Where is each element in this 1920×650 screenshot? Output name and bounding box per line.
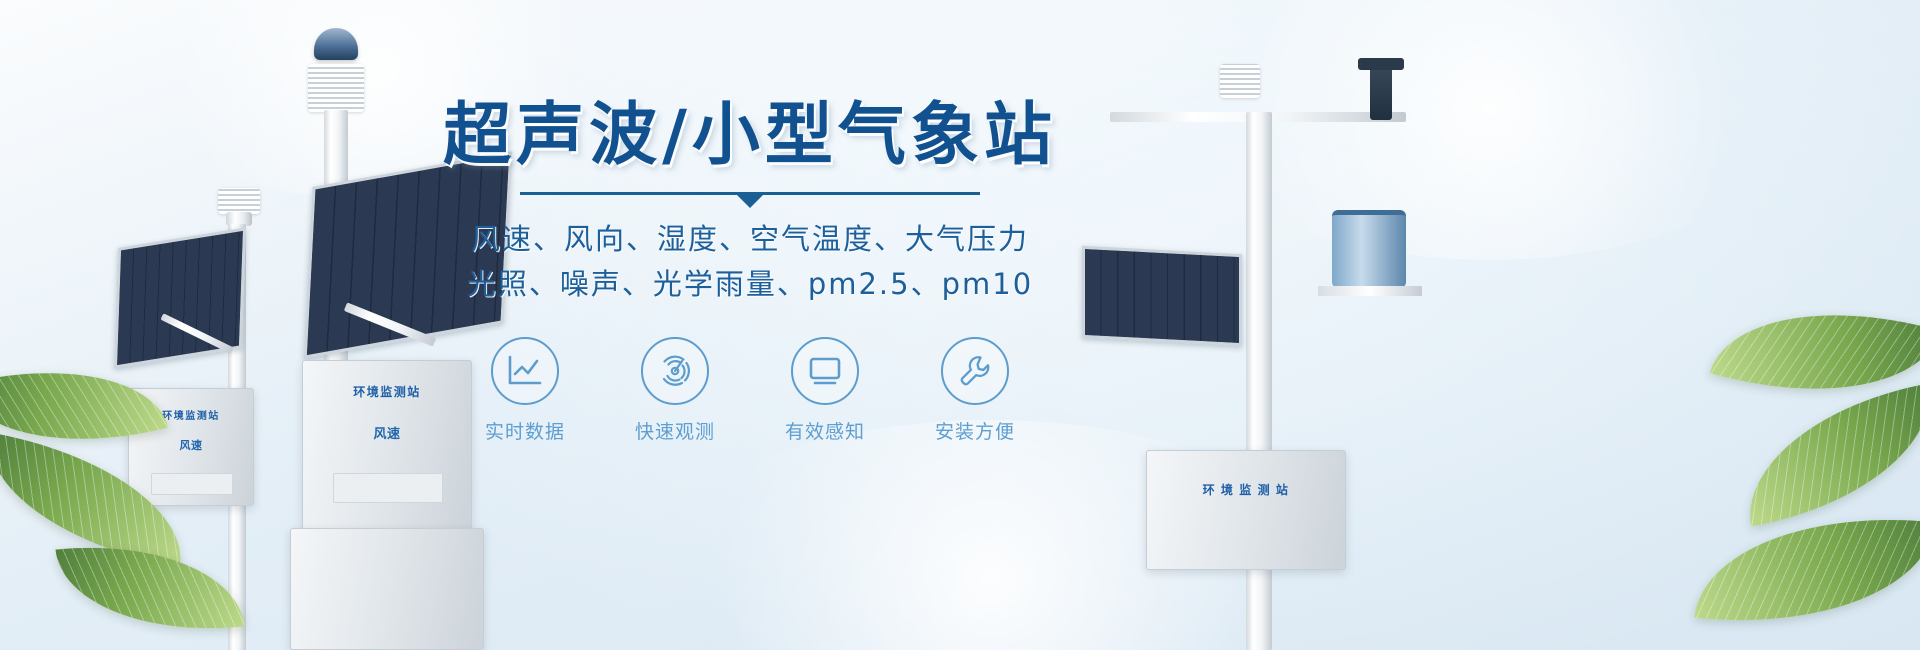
monitoring-cabinet: 环 境 监 测 站 xyxy=(1146,450,1346,570)
feature-label: 安装方便 xyxy=(920,417,1030,444)
radar-signal-icon xyxy=(656,352,694,390)
ultrasonic-sensor-dome-icon xyxy=(314,28,358,60)
sensor-radiation-shield-icon xyxy=(308,64,364,112)
sensor-radiation-shield-icon xyxy=(218,188,260,214)
sensor-radiation-shield-icon xyxy=(1220,64,1260,98)
wrench-icon xyxy=(956,352,994,390)
cabinet-brand: 风速 xyxy=(129,437,253,453)
feature-icon-circle xyxy=(491,337,559,405)
wind-vane-fin-icon xyxy=(1358,58,1404,70)
feature-list: 实时数据 xyxy=(440,337,1060,444)
rain-gauge-shelf xyxy=(1318,286,1422,296)
feature-item-realtime-data[interactable]: 实时数据 xyxy=(470,337,580,444)
cabinet-base xyxy=(290,528,484,650)
leaf-decoration xyxy=(1694,498,1920,641)
feature-icon-circle xyxy=(641,337,709,405)
feature-icon-circle xyxy=(941,337,1009,405)
monitor-screen-icon xyxy=(806,354,844,388)
subtitle-line-1: 风速、风向、湿度、空气温度、大气压力 xyxy=(440,217,1060,262)
feature-item-fast-observation[interactable]: 快速观测 xyxy=(620,337,730,444)
leaf-decoration xyxy=(1732,383,1920,526)
weather-station-right: 环 境 监 测 站 xyxy=(1060,50,1480,650)
line-chart-icon xyxy=(506,354,544,388)
page-title: 超声波/小型气象站 xyxy=(440,100,1060,171)
hero-content: 超声波/小型气象站 风速、风向、湿度、空气温度、大气压力 光照、噪声、光学雨量、… xyxy=(440,100,1060,444)
cabinet-label: 环 境 监 测 站 xyxy=(1147,481,1345,498)
rain-gauge-icon xyxy=(1332,210,1406,288)
feature-label: 有效感知 xyxy=(770,417,880,444)
divider-triangle-icon xyxy=(736,194,764,208)
feature-item-effective-sensing[interactable]: 有效感知 xyxy=(770,337,880,444)
solar-panel xyxy=(1082,246,1242,346)
feature-label: 实时数据 xyxy=(470,417,580,444)
feature-label: 快速观测 xyxy=(620,417,730,444)
hero-banner: 环境监测站 风速 环境监测站 风速 环 境 监 测 站 xyxy=(0,0,1920,650)
title-divider xyxy=(520,189,980,211)
subtitle-line-2: 光照、噪声、光学雨量、pm2.5、pm10 xyxy=(440,262,1060,307)
feature-item-easy-install[interactable]: 安装方便 xyxy=(920,337,1030,444)
feature-icon-circle xyxy=(791,337,859,405)
